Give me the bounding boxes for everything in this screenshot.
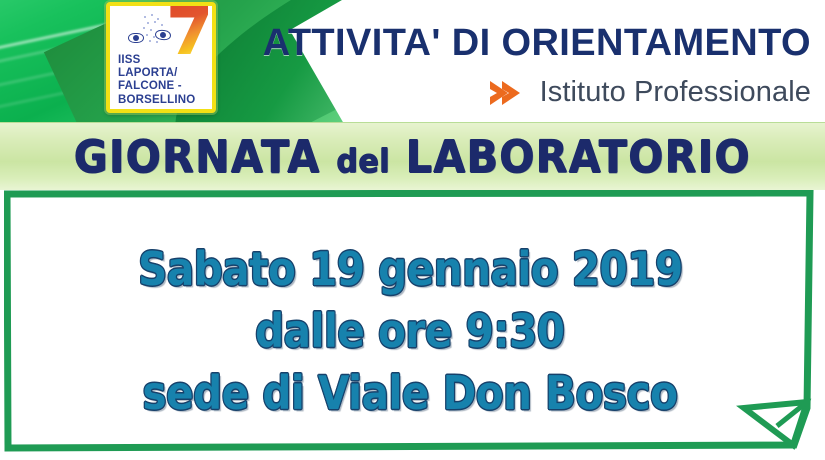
body-line-date: Sabato 19 gennaio 2019 bbox=[138, 242, 683, 296]
logo-line-2: LAPORTA/ bbox=[118, 67, 212, 80]
poster-root: IISS LAPORTA/ FALCONE - BORSELLINO ATTIV… bbox=[0, 0, 825, 460]
school-logo: IISS LAPORTA/ FALCONE - BORSELLINO bbox=[106, 2, 216, 113]
poster-header: IISS LAPORTA/ FALCONE - BORSELLINO ATTIV… bbox=[0, 0, 825, 122]
body-line-time: dalle ore 9:30 bbox=[255, 304, 564, 358]
header-subtitle: Istituto Professionale bbox=[540, 76, 811, 109]
banner-title-part3: LABORATORIO bbox=[406, 131, 751, 183]
banner-inner: GIORNATA del LABORATORIO bbox=[0, 123, 825, 190]
logo-artwork bbox=[110, 6, 212, 58]
double-chevron-icon bbox=[488, 78, 530, 108]
logo-line-3: FALCONE - bbox=[118, 80, 212, 93]
banner-band: GIORNATA del LABORATORIO bbox=[0, 122, 825, 190]
logo-line-1: IISS bbox=[118, 54, 212, 67]
banner-title-part2: del bbox=[337, 142, 391, 180]
banner-title-part1: GIORNATA bbox=[74, 131, 321, 183]
body-line-venue: sede di Viale Don Bosco bbox=[142, 366, 677, 420]
logo-seven-flame-icon bbox=[168, 6, 208, 54]
header-title: ATTIVITA' DI ORIENTAMENTO bbox=[263, 22, 811, 65]
logo-eye-left-icon bbox=[128, 33, 144, 43]
body-text-block: Sabato 19 gennaio 2019 dalle ore 9:30 se… bbox=[14, 198, 806, 446]
logo-text-block: IISS LAPORTA/ FALCONE - BORSELLINO bbox=[110, 54, 212, 107]
banner-title: GIORNATA del LABORATORIO bbox=[74, 131, 751, 183]
header-subtitle-row: Istituto Professionale bbox=[488, 76, 811, 109]
logo-line-4: BORSELLINO bbox=[118, 94, 212, 107]
